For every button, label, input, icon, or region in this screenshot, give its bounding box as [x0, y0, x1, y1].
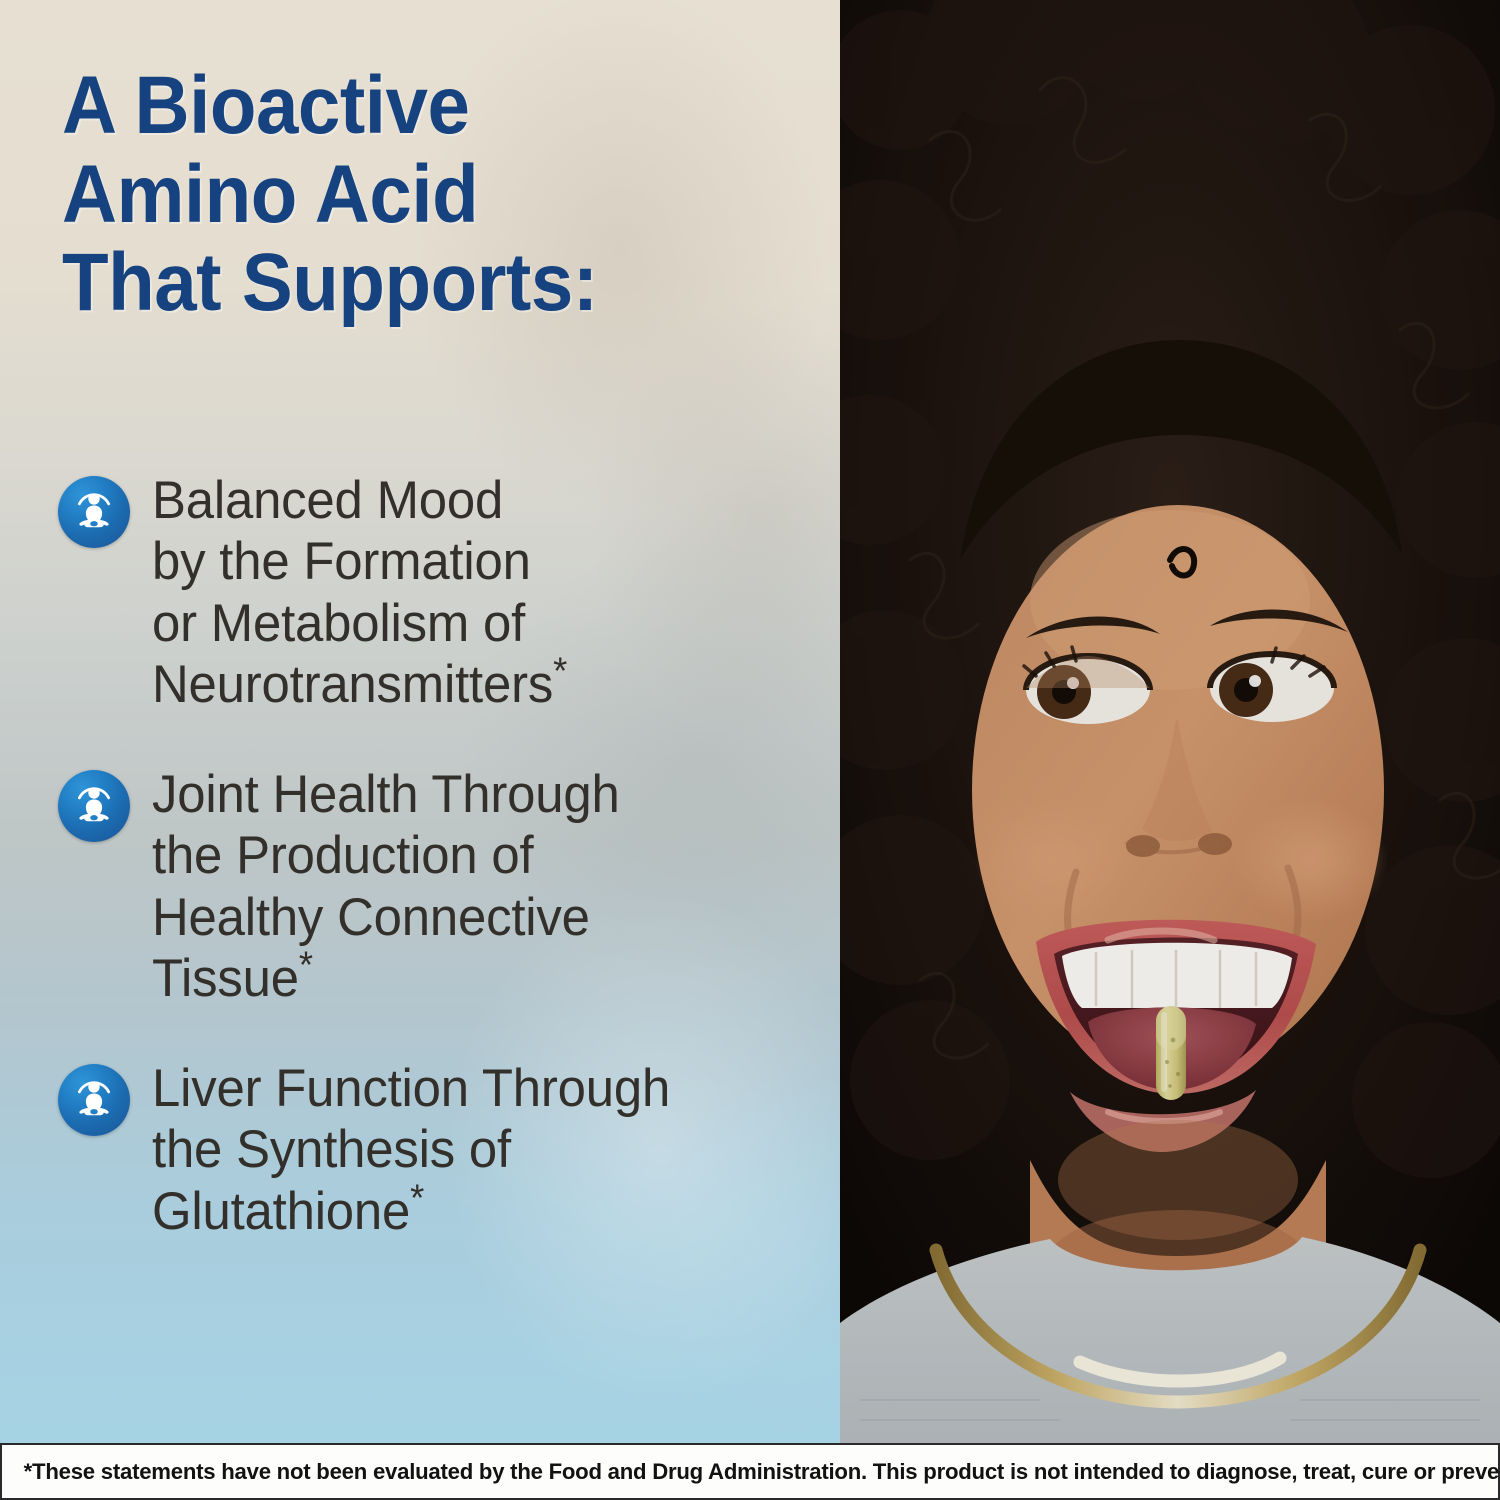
- benefits-panel: A Bioactive Amino Acid That Supports:: [0, 0, 840, 1443]
- asterisk-marker: *: [410, 1177, 424, 1219]
- page-title: A Bioactive Amino Acid That Supports:: [62, 62, 769, 328]
- benefit-line: Glutathione*: [152, 1181, 670, 1242]
- fda-disclaimer-bar: *These statements have not been evaluate…: [0, 1443, 1500, 1500]
- benefit-line-text: Neurotransmitters: [152, 655, 553, 714]
- benefit-text-liver-function: Liver Function Through the Synthesis of …: [152, 1058, 670, 1242]
- asterisk-marker: *: [299, 945, 313, 987]
- fda-disclaimer-text: *These statements have not been evaluate…: [2, 1459, 1500, 1485]
- benefit-line: or Metabolism of: [152, 593, 567, 654]
- benefit-line: the Synthesis of: [152, 1119, 670, 1180]
- benefit-text-joint-health: Joint Health Through the Production of H…: [152, 764, 620, 1010]
- title-line-3: That Supports:: [62, 239, 769, 328]
- infographic-canvas: A Bioactive Amino Acid That Supports:: [0, 0, 1500, 1500]
- title-line-1: A Bioactive: [62, 62, 769, 151]
- benefits-list: Balanced Mood by the Formation or Metabo…: [58, 470, 828, 1242]
- benefit-line: the Production of: [152, 825, 620, 886]
- meditation-lotus-icon: [58, 1064, 130, 1136]
- benefit-line: Balanced Mood: [152, 470, 567, 531]
- benefit-line-text: Tissue: [152, 949, 299, 1008]
- meditation-lotus-icon: [58, 476, 130, 548]
- benefit-line-text: Glutathione: [152, 1182, 410, 1241]
- product-lifestyle-photo: [840, 0, 1500, 1443]
- meditation-lotus-icon: [58, 770, 130, 842]
- title-line-2: Amino Acid: [62, 151, 769, 240]
- benefit-line: Neurotransmitters*: [152, 654, 567, 715]
- benefit-line: by the Formation: [152, 531, 567, 592]
- benefit-line: Tissue*: [152, 948, 620, 1009]
- benefit-line: Healthy Connective: [152, 887, 620, 948]
- benefit-text-balanced-mood: Balanced Mood by the Formation or Metabo…: [152, 470, 567, 716]
- benefit-item-liver-function: Liver Function Through the Synthesis of …: [58, 1058, 828, 1242]
- benefit-item-joint-health: Joint Health Through the Production of H…: [58, 764, 828, 1010]
- asterisk-marker: *: [553, 651, 567, 693]
- benefit-line: Joint Health Through: [152, 764, 620, 825]
- benefit-item-balanced-mood: Balanced Mood by the Formation or Metabo…: [58, 470, 828, 716]
- benefit-line: Liver Function Through: [152, 1058, 670, 1119]
